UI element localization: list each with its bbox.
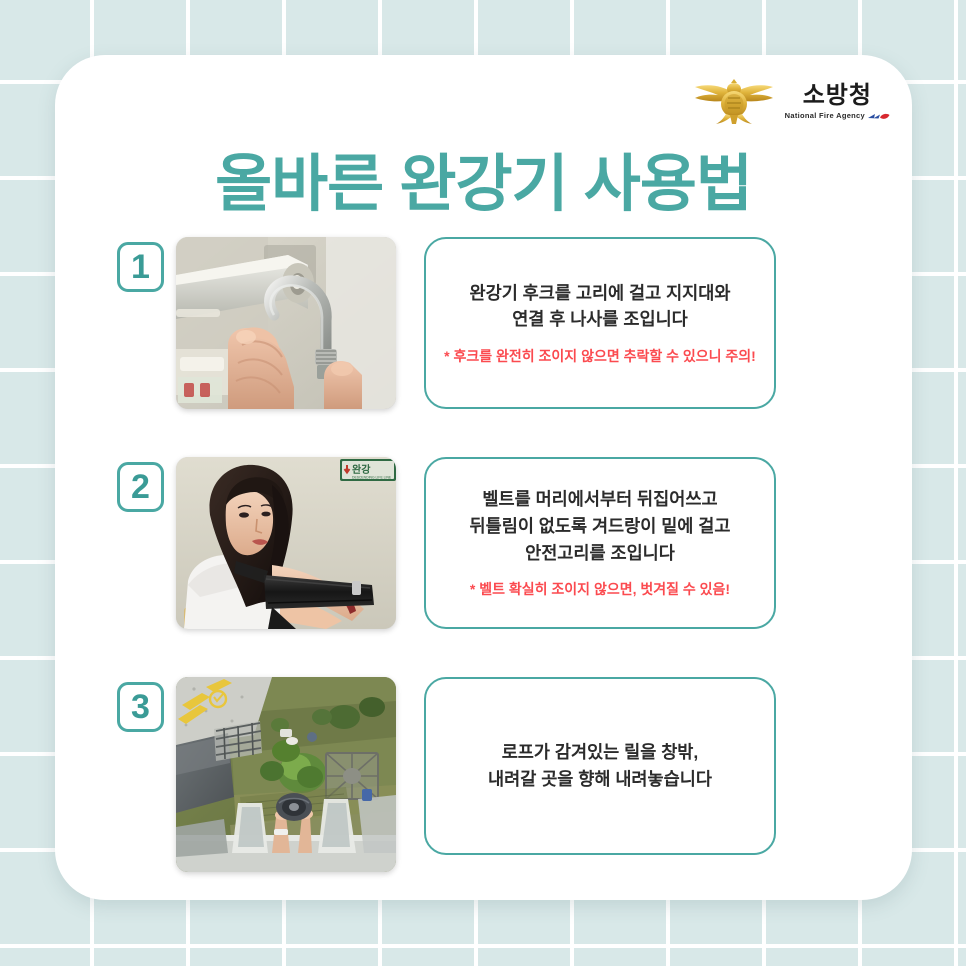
nfa-swoosh-icon xyxy=(868,112,890,121)
step-instruction-1: 완강기 후크를 고리에 걸고 지지대와 연결 후 나사를 조입니다 xyxy=(470,280,731,333)
agency-name-en: National Fire Agency xyxy=(785,112,865,120)
page-title: 올바른 완강기 사용법 xyxy=(55,133,912,223)
step-photo-2: 완강 DESCENDING LIFE LINE xyxy=(176,457,396,629)
step-row-3: 3 xyxy=(55,677,912,877)
step-row-2: 2 xyxy=(55,457,912,637)
svg-text:DESCENDING LIFE LINE: DESCENDING LIFE LINE xyxy=(352,476,392,480)
step-row-1: 1 xyxy=(55,237,912,417)
step-instruction-2: 벨트를 머리에서부터 뒤집어쓰고 뒤틀림이 없도록 겨드랑이 밑에 걸고 안전고… xyxy=(470,486,731,566)
steps-list: 1 xyxy=(55,237,912,877)
step-text-bubble-3: 로프가 감겨있는 릴을 창밖, 내려갈 곳을 향해 내려놓습니다 xyxy=(424,677,776,855)
step-photo-1 xyxy=(176,237,396,409)
step-text-bubble-1: 완강기 후크를 고리에 걸고 지지대와 연결 후 나사를 조입니다 * 후크를 … xyxy=(424,237,776,409)
agency-logo: 소방청 National Fire Agency xyxy=(691,79,890,125)
agency-name-en-row: National Fire Agency xyxy=(785,112,890,121)
agency-name-ko: 소방청 xyxy=(803,84,872,108)
step-warning-1: * 후크를 완전히 조이지 않으면 추락할 수 있으니 주의! xyxy=(444,347,756,367)
belt-wearing-photo: 완강 DESCENDING LIFE LINE xyxy=(176,457,396,629)
step-number-badge-1: 1 xyxy=(117,242,164,292)
emergency-descent-sign: 완강 DESCENDING LIFE LINE xyxy=(340,459,396,481)
agency-logo-text: 소방청 National Fire Agency xyxy=(785,84,890,121)
poster-canvas: 소방청 National Fire Agency 올바른 완강기 사용법 1 xyxy=(0,0,966,966)
descender-reel xyxy=(276,793,312,821)
step-text-bubble-2: 벨트를 머리에서부터 뒤집어쓰고 뒤틀림이 없도록 겨드랑이 밑에 걸고 안전고… xyxy=(424,457,776,629)
eagle-emblem-icon xyxy=(691,79,777,125)
svg-text:완강: 완강 xyxy=(352,463,371,476)
hook-attachment-photo xyxy=(176,237,396,409)
step-number-badge-3: 3 xyxy=(117,682,164,732)
content-card: 소방청 National Fire Agency 올바른 완강기 사용법 1 xyxy=(55,55,912,900)
step-instruction-3: 로프가 감겨있는 릴을 창밖, 내려갈 곳을 향해 내려놓습니다 xyxy=(488,739,712,792)
reel-lowering-aerial-photo xyxy=(176,677,396,872)
step-number-badge-2: 2 xyxy=(117,462,164,512)
step-photo-3 xyxy=(176,677,396,872)
step-warning-2: * 벨트 확실히 조이지 않으면, 벗겨질 수 있음! xyxy=(470,580,730,600)
